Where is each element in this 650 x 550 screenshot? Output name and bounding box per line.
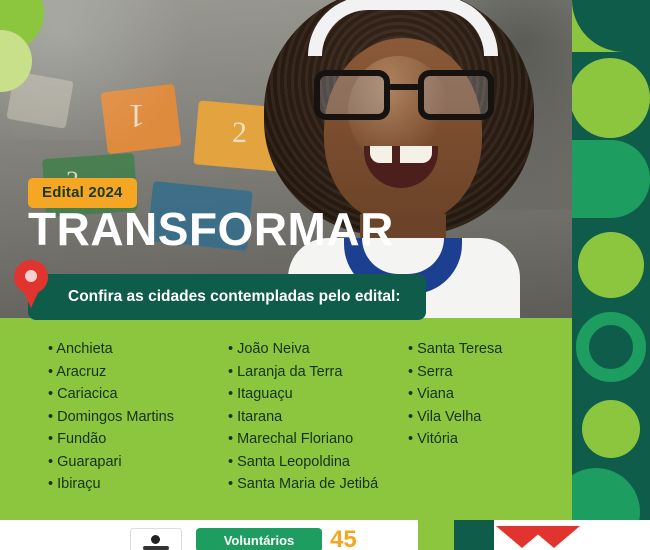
list-item: • Guarapari [48, 451, 228, 474]
list-item: • Aracruz [48, 361, 228, 384]
list-item: • Cariacica [48, 383, 228, 406]
glasses-lens-right [418, 70, 494, 120]
list-item: • Ibiraçu [48, 473, 228, 496]
list-item: • João Neiva [228, 338, 408, 361]
logo-mark-icon [130, 528, 182, 550]
page-title: TRANSFORMAR [28, 206, 394, 252]
list-item: • Viana [408, 383, 558, 406]
list-item: • Santa Maria de Jetibá [228, 473, 408, 496]
cities-column-2: • João Neiva • Laranja da Terra • Itagua… [228, 338, 408, 496]
girl-portrait [252, 0, 552, 318]
glasses-icon [314, 70, 494, 122]
glasses-lens-left [314, 70, 390, 120]
footer-green-block [418, 520, 454, 550]
double-chevron-icon-2 [528, 526, 580, 548]
glasses-bridge [388, 84, 420, 90]
list-item: • Marechal Floriano [228, 428, 408, 451]
map-pin-icon [14, 260, 48, 308]
cities-list: • Anchieta • Aracruz • Cariacica • Domin… [48, 338, 558, 496]
decor-circle-4 [582, 400, 640, 458]
chalk-mark-2: 2 [232, 116, 247, 150]
list-item: • Santa Teresa [408, 338, 558, 361]
list-item: • Itarana [228, 406, 408, 429]
footer-number: 45 [330, 526, 357, 550]
decor-circle-1 [572, 58, 650, 138]
decor-ring [576, 312, 646, 382]
list-item: • Serra [408, 361, 558, 384]
poster-page: 1 2 3 Edital 2024 TRAN [0, 0, 650, 550]
list-item: • Laranja da Terra [228, 361, 408, 384]
list-item: • Vitória [408, 428, 558, 451]
cities-column-3: • Santa Teresa • Serra • Viana • Vila Ve… [408, 338, 558, 496]
list-item: • Domingos Martins [48, 406, 228, 429]
list-item: • Santa Leopoldina [228, 451, 408, 474]
footer-pill: Voluntários [196, 528, 322, 550]
hero-photo: 1 2 3 [0, 0, 572, 318]
decor-circle-5 [572, 468, 640, 520]
ribbon-label: Confira as cidades contempladas pelo edi… [68, 274, 400, 320]
list-item: • Vila Velha [408, 406, 558, 429]
cities-column-1: • Anchieta • Aracruz • Cariacica • Domin… [48, 338, 228, 496]
cities-ribbon: Confira as cidades contempladas pelo edi… [28, 274, 426, 320]
list-item: • Fundão [48, 428, 228, 451]
list-item: • Anchieta [48, 338, 228, 361]
list-item: • Itaguaçu [228, 383, 408, 406]
footer-teal-block [454, 520, 494, 550]
decor-right-column [572, 0, 650, 520]
decor-circle-3 [578, 232, 644, 298]
decor-halfcircle-2 [572, 140, 650, 218]
